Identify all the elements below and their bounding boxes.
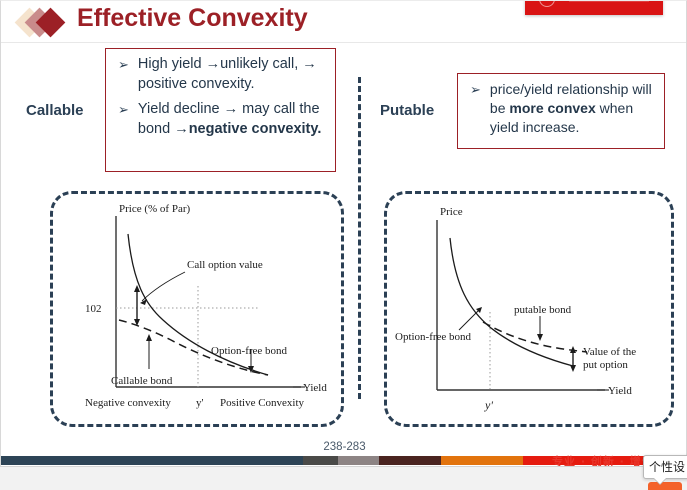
bullet-text: price/yield relationship will be more co… (490, 80, 656, 137)
annotation-option-free-bond: Option-free bond (211, 345, 288, 357)
axis-note-yprime: y' (196, 397, 204, 409)
arrow-bullet-icon: ➢ (470, 80, 481, 99)
arrow-bullet-icon: ➢ (118, 100, 129, 119)
diamond-decoration-icon (19, 7, 71, 39)
callout-box-callable: ➢ High yield →unlikely call, → positive … (105, 48, 336, 172)
bullet-text: High yield →unlikely call, → positive co… (138, 55, 327, 94)
annotation-option-free-bond: Option-free bond (395, 331, 472, 343)
annotation-call-option-value: Call option value (187, 259, 263, 271)
tooltip-popup: 个性设 (643, 455, 687, 479)
title-divider (1, 42, 687, 43)
bullet-text: Yield decline → may call the bond →negat… (138, 100, 327, 139)
annotation-callable-bond-text: Callable bond (111, 375, 173, 387)
chart-ylabel: Price (% of Par) (119, 203, 191, 215)
callout-box-putable: ➢ price/yield relationship will be more … (457, 73, 665, 149)
slide-canvas: Effective Convexity Callable Putable ➢ H… (0, 0, 687, 466)
axis-note-positive-convexity: Positive Convexity (220, 397, 305, 409)
chart-ylabel: Price (440, 206, 463, 218)
chart-panel-callable: Price (% of Par) 102 Call option value C… (50, 191, 344, 427)
page-title: Effective Convexity (77, 4, 308, 33)
annotation-putable-bond: putable bond (514, 304, 572, 316)
axis-note-negative-convexity: Negative convexity (85, 397, 171, 409)
logo-wordmark (569, 0, 649, 2)
putable-bond-chart: Price Option-free bond putable bond Valu… (387, 194, 671, 424)
chart-panel-putable: Price Option-free bond putable bond Valu… (384, 191, 674, 427)
seal-icon (539, 0, 555, 7)
footer-slogan: 专业 · 创新 · 增值 (552, 453, 654, 466)
chart-xlabel: Yield (608, 385, 632, 397)
chart-ytick-102: 102 (85, 303, 102, 315)
arrow-bullet-icon: ➢ (118, 55, 129, 74)
bullet-item: ➢ High yield →unlikely call, → positive … (112, 55, 327, 94)
label-callable: Callable (26, 102, 84, 119)
label-putable: Putable (380, 102, 434, 119)
page-number: 238-283 (1, 441, 687, 453)
org-logo-banner (525, 0, 663, 15)
bullet-item: ➢ price/yield relationship will be more … (464, 80, 656, 137)
chart-xlabel: Yield (303, 382, 327, 394)
vertical-dashed-divider (358, 77, 361, 399)
annotation-put-option-value-line2: put option (583, 359, 628, 371)
app-bottom-strip (0, 466, 687, 490)
bullet-item: ➢ Yield decline → may call the bond →neg… (112, 100, 327, 139)
callable-bond-chart: Price (% of Par) 102 Call option value C… (53, 194, 341, 424)
axis-note-yprime: y' (484, 398, 493, 412)
annotation-put-option-value-line1: Value of the (583, 346, 636, 358)
